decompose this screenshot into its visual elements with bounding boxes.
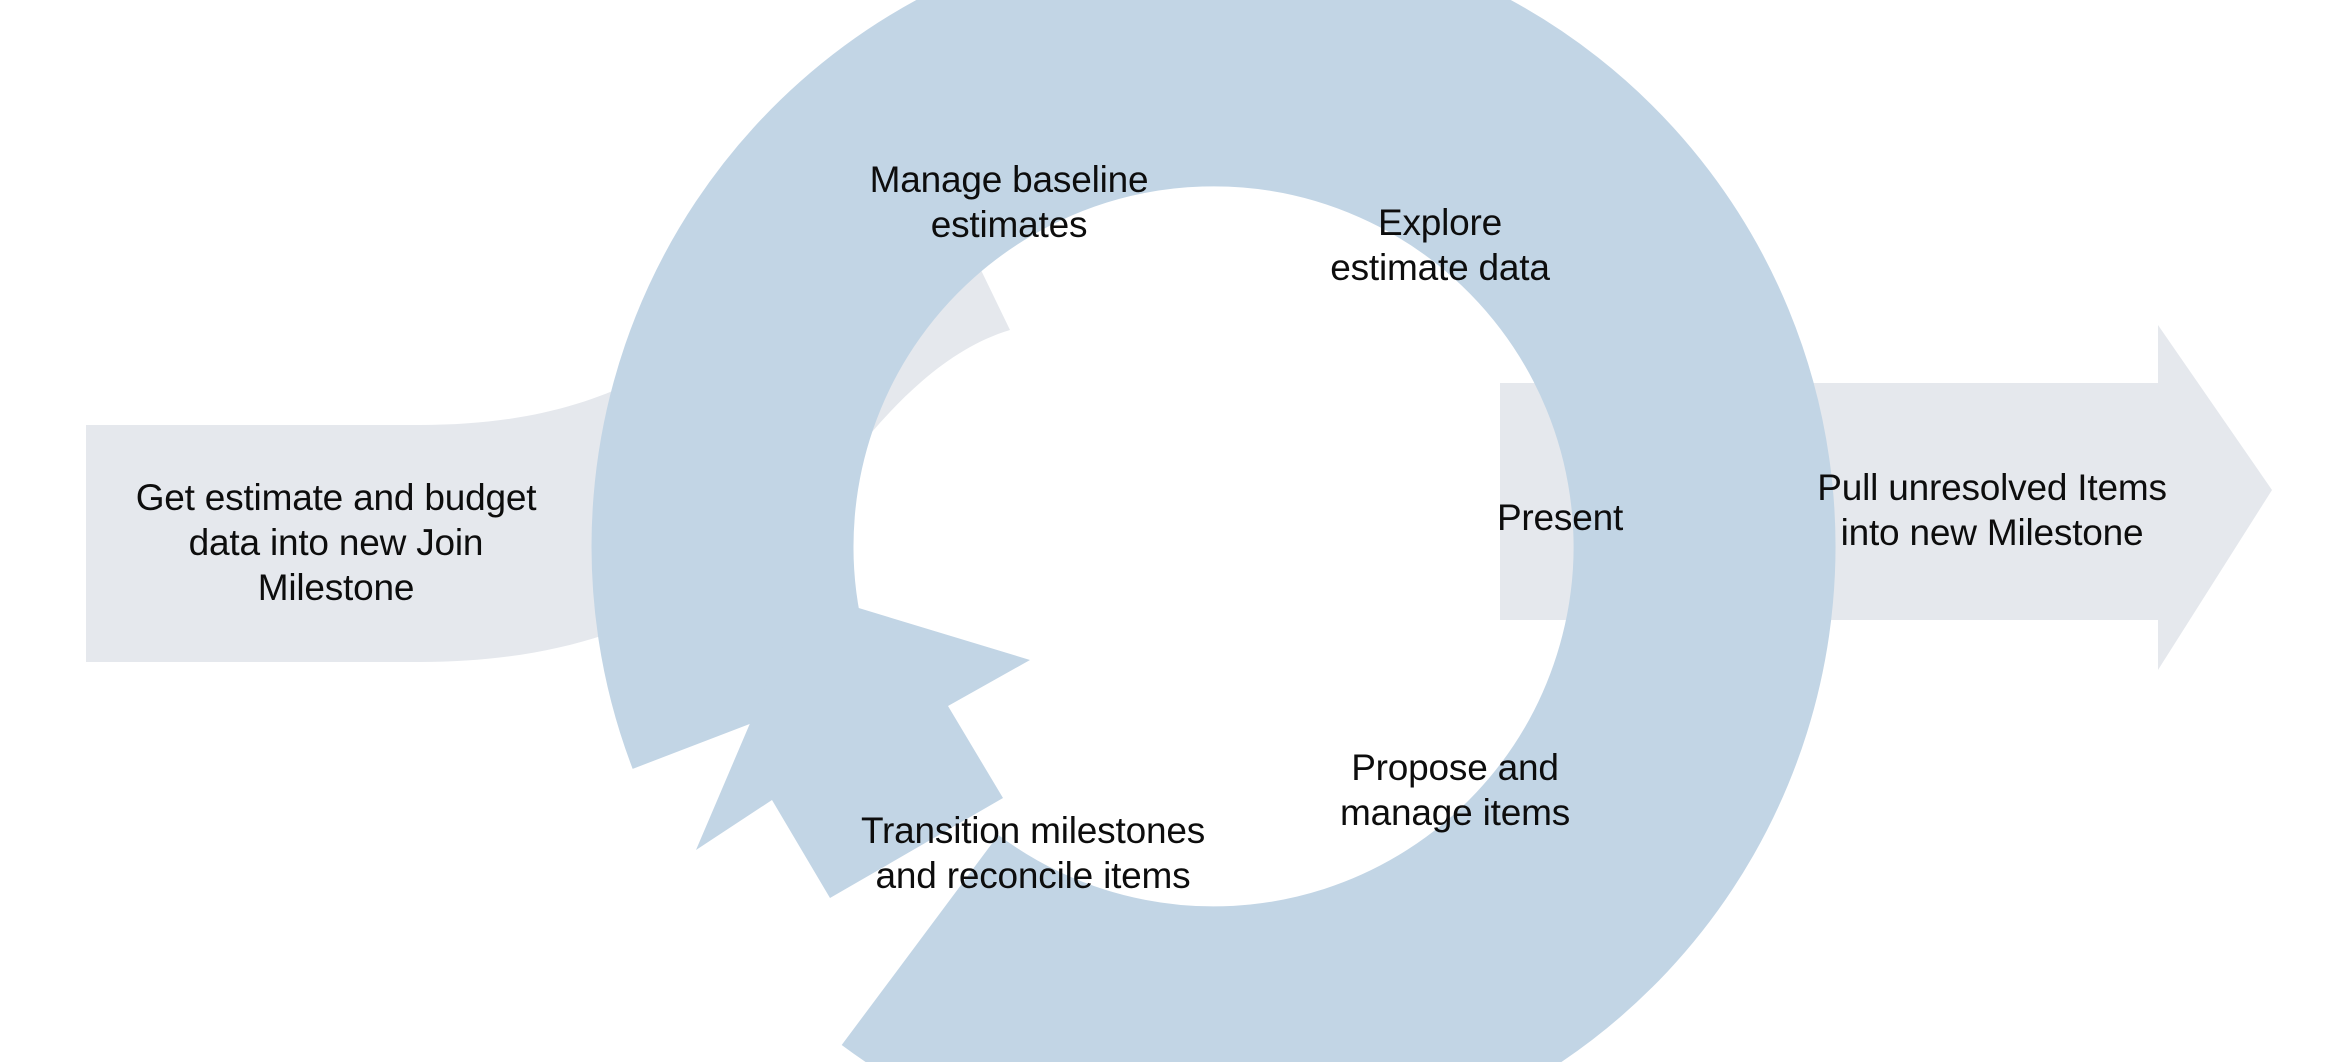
step-label-present: Present (1440, 495, 1680, 540)
step-label-propose-and-manage-items: Propose and manage items (1295, 745, 1615, 835)
step-label-manage-baseline-estimates: Manage baseline estimates (814, 157, 1204, 247)
step-label-transition-milestones: Transition milestones and reconcile item… (818, 808, 1248, 898)
cycle-diagram: Get estimate and budget data into new Jo… (0, 0, 2330, 1062)
input-arrow-label: Get estimate and budget data into new Jo… (86, 475, 586, 610)
output-arrow-label: Pull unresolved Items into new Milestone (1757, 465, 2227, 555)
step-label-explore-estimate-data: Explore estimate data (1265, 200, 1615, 290)
